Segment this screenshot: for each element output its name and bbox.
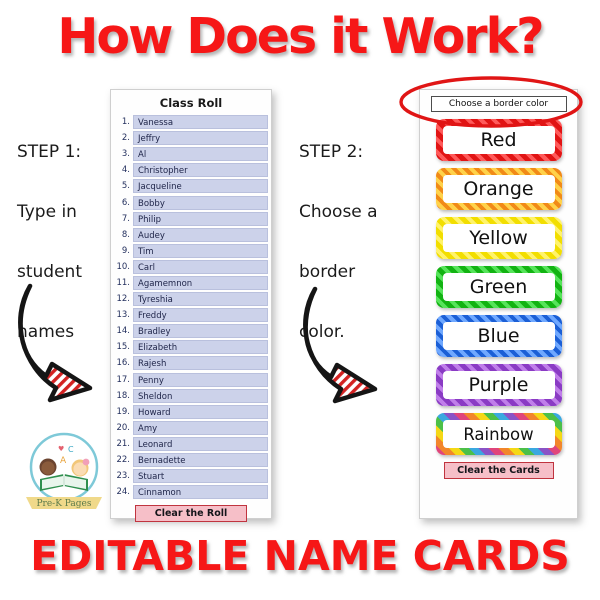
class-roll-row: 20.Amy: [113, 420, 268, 436]
class-roll-row: 6.Bobby: [113, 194, 268, 210]
class-roll-row-number: 19.: [113, 407, 133, 417]
class-roll-row: 21.Leonard: [113, 436, 268, 452]
student-name-input[interactable]: Bernadette: [133, 453, 268, 467]
student-name-input[interactable]: Bradley: [133, 324, 268, 338]
name-card-orange[interactable]: Orange: [436, 168, 562, 210]
student-name-input[interactable]: Rajesh: [133, 356, 268, 370]
student-name-input[interactable]: Agamemnon: [133, 276, 268, 290]
class-roll-row-number: 13.: [113, 310, 133, 320]
curved-arrow-icon: [297, 277, 395, 407]
svg-text:♥: ♥: [58, 445, 64, 453]
student-name-input[interactable]: Tim: [133, 244, 268, 258]
class-roll-row-number: 23.: [113, 471, 133, 481]
class-roll-row: 18.Sheldon: [113, 388, 268, 404]
student-name-input[interactable]: Freddy: [133, 308, 268, 322]
class-roll-row: 4.Christopher: [113, 162, 268, 178]
student-name-input[interactable]: Amy: [133, 421, 268, 435]
class-roll-row-number: 3.: [113, 149, 133, 159]
student-name-input[interactable]: Penny: [133, 373, 268, 387]
student-name-input[interactable]: Howard: [133, 405, 268, 419]
name-card-label: Red: [480, 131, 516, 150]
class-roll-row: 8.Audey: [113, 227, 268, 243]
prek-pages-logo: ♥ C A Pre-K Pages: [18, 427, 110, 515]
class-roll-title: Class Roll: [111, 96, 271, 110]
name-card-label: Green: [470, 278, 528, 297]
student-name-input[interactable]: Audey: [133, 228, 268, 242]
name-card-rainbow[interactable]: Rainbow: [436, 413, 562, 455]
student-name-input[interactable]: Cinnamon: [133, 485, 268, 499]
class-roll-row-number: 12.: [113, 294, 133, 304]
class-roll-row: 12.Tyreshia: [113, 291, 268, 307]
student-name-input[interactable]: Jeffry: [133, 131, 268, 145]
class-roll-row-number: 21.: [113, 439, 133, 449]
page-title: How Does it Work?: [0, 8, 600, 66]
class-roll-row: 17.Penny: [113, 372, 268, 388]
class-roll-list: 1.Vanessa2.Jeffry3.Al4.Christopher5.Jacq…: [111, 114, 271, 500]
class-roll-row-number: 9.: [113, 246, 133, 256]
student-name-input[interactable]: Philip: [133, 212, 268, 226]
clear-the-cards-button[interactable]: Clear the Cards: [444, 462, 554, 479]
class-roll-row: 24.Cinnamon: [113, 484, 268, 500]
class-roll-row-number: 7.: [113, 214, 133, 224]
name-card-label: Yellow: [469, 229, 528, 248]
student-name-input[interactable]: Vanessa: [133, 115, 268, 129]
name-card-label: Rainbow: [463, 425, 533, 444]
class-roll-row: 10.Carl: [113, 259, 268, 275]
name-card-blue[interactable]: Blue: [436, 315, 562, 357]
class-roll-row: 9.Tim: [113, 243, 268, 259]
name-card-face: Red: [443, 126, 555, 154]
footer-banner: EDITABLE NAME CARDS: [0, 531, 600, 581]
poster-canvas: How Does it Work? STEP 1: Type in studen…: [0, 0, 600, 600]
name-card-yellow[interactable]: Yellow: [436, 217, 562, 259]
class-roll-row-number: 8.: [113, 230, 133, 240]
class-roll-row: 1.Vanessa: [113, 114, 268, 130]
class-roll-row: 15.Elizabeth: [113, 339, 268, 355]
class-roll-row-number: 15.: [113, 342, 133, 352]
class-roll-row: 23.Stuart: [113, 468, 268, 484]
name-card-stack: RedOrangeYellowGreenBluePurpleRainbow: [420, 119, 577, 455]
student-name-input[interactable]: Al: [133, 147, 268, 161]
student-name-input[interactable]: Carl: [133, 260, 268, 274]
name-card-face: Orange: [443, 175, 555, 203]
class-roll-row: 5.Jacqueline: [113, 178, 268, 194]
class-roll-row: 3.Al: [113, 146, 268, 162]
class-roll-row: 7.Philip: [113, 211, 268, 227]
class-roll-row-number: 5.: [113, 181, 133, 191]
student-name-input[interactable]: Tyreshia: [133, 292, 268, 306]
student-name-input[interactable]: Stuart: [133, 469, 268, 483]
name-card-face: Yellow: [443, 224, 555, 252]
name-card-purple[interactable]: Purple: [436, 364, 562, 406]
name-cards-panel: Choose a border color RedOrangeYellowGre…: [419, 89, 578, 519]
name-card-face: Blue: [443, 322, 555, 350]
svg-text:A: A: [60, 456, 67, 466]
class-roll-row: 13.Freddy: [113, 307, 268, 323]
svg-text:C: C: [68, 445, 74, 454]
name-card-face: Green: [443, 273, 555, 301]
name-card-face: Rainbow: [443, 420, 555, 448]
class-roll-row-number: 4.: [113, 165, 133, 175]
class-roll-row: 16.Rajesh: [113, 355, 268, 371]
name-card-label: Blue: [477, 327, 519, 346]
class-roll-row-number: 20.: [113, 423, 133, 433]
class-roll-row-number: 10.: [113, 262, 133, 272]
class-roll-row-number: 14.: [113, 326, 133, 336]
student-name-input[interactable]: Sheldon: [133, 389, 268, 403]
student-name-input[interactable]: Jacqueline: [133, 179, 268, 193]
name-card-label: Orange: [463, 180, 533, 199]
class-roll-row-number: 24.: [113, 487, 133, 497]
class-roll-row: 2.Jeffry: [113, 130, 268, 146]
name-card-green[interactable]: Green: [436, 266, 562, 308]
clear-the-roll-button[interactable]: Clear the Roll: [135, 505, 247, 522]
student-name-input[interactable]: Bobby: [133, 196, 268, 210]
name-card-face: Purple: [443, 371, 555, 399]
name-card-label: Purple: [468, 376, 528, 395]
logo-text: Pre-K Pages: [36, 499, 91, 509]
class-roll-row: 19.Howard: [113, 404, 268, 420]
class-roll-row-number: 17.: [113, 375, 133, 385]
class-roll-row: 11.Agamemnon: [113, 275, 268, 291]
student-name-input[interactable]: Elizabeth: [133, 340, 268, 354]
class-roll-row-number: 16.: [113, 358, 133, 368]
student-name-input[interactable]: Leonard: [133, 437, 268, 451]
class-roll-row-number: 18.: [113, 391, 133, 401]
class-roll-row-number: 6.: [113, 198, 133, 208]
class-roll-row-number: 2.: [113, 133, 133, 143]
class-roll-row-number: 11.: [113, 278, 133, 288]
class-roll-panel: Class Roll 1.Vanessa2.Jeffry3.Al4.Christ…: [110, 89, 272, 519]
class-roll-row: 22.Bernadette: [113, 452, 268, 468]
class-roll-row: 14.Bradley: [113, 323, 268, 339]
red-ellipse-highlight: [396, 74, 586, 130]
class-roll-row-number: 22.: [113, 455, 133, 465]
class-roll-row-number: 1.: [113, 117, 133, 127]
student-name-input[interactable]: Christopher: [133, 163, 268, 177]
curved-arrow-icon: [12, 272, 110, 407]
